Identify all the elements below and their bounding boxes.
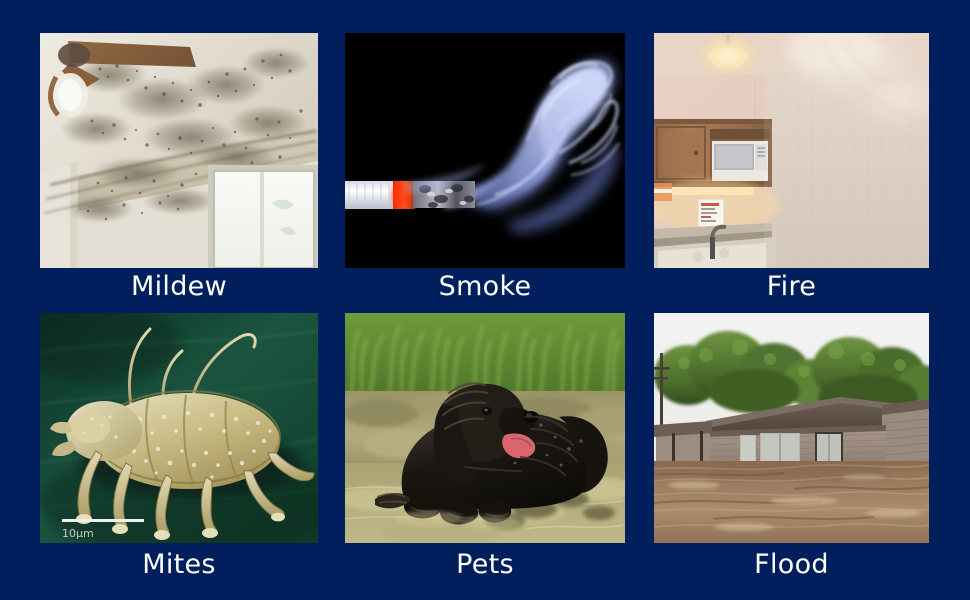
mildew-ceiling-photo [40, 33, 318, 268]
tile-caption-fire: Fire [654, 273, 929, 300]
tile-caption-pets: Pets [345, 551, 625, 578]
tile-caption-flood: Flood [654, 551, 929, 578]
fire-smoke-damaged-kitchen-photo [654, 33, 929, 268]
category-grid: Mildew [0, 0, 970, 600]
photo-grid-page: Mildew [0, 0, 970, 600]
tile-caption-mildew: Mildew [40, 273, 318, 300]
cigarette-smoke-photo [345, 33, 625, 268]
dust-mite-microscope-photo: 10µm [40, 313, 318, 543]
tile-caption-mites: Mites [40, 551, 318, 578]
tile-caption-smoke: Smoke [345, 273, 625, 300]
muddy-dog-photo [345, 313, 625, 543]
flooded-house-photo [654, 313, 929, 543]
